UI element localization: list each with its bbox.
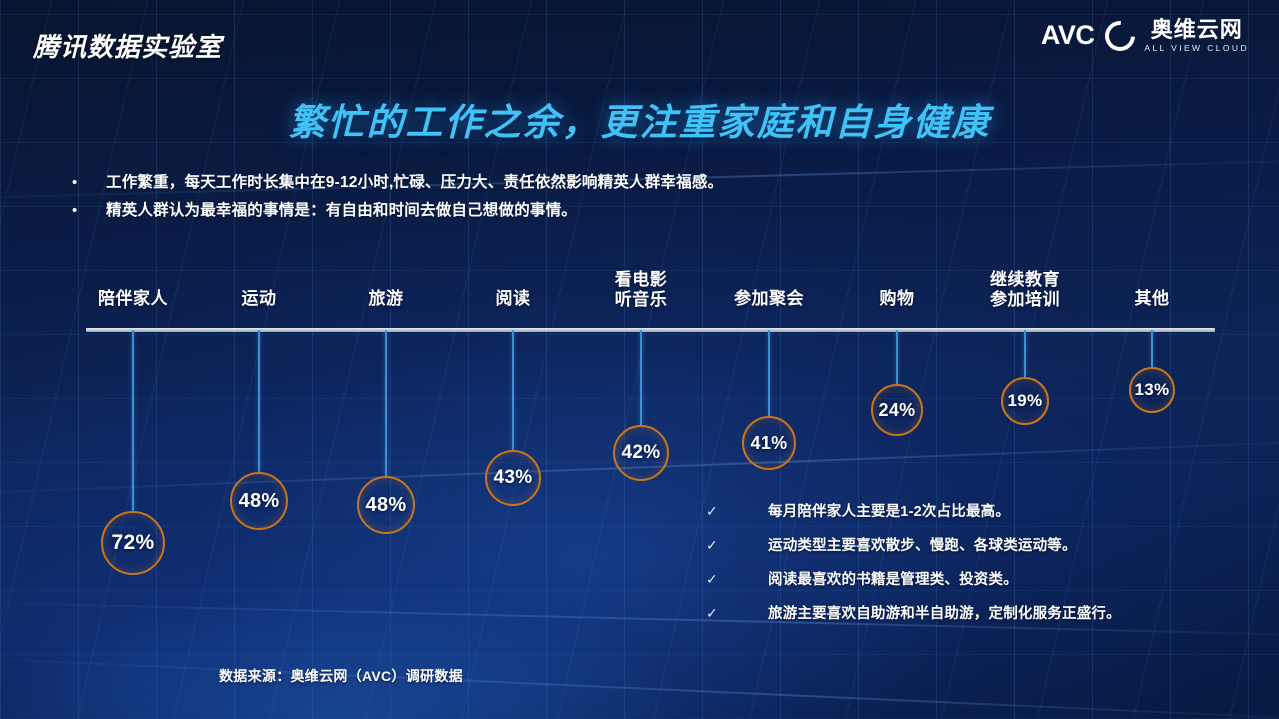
checklist-item-text: 旅游主要喜欢自助游和半自助游，定制化服务正盛行。 <box>768 602 1121 623</box>
chart-value-bubble[interactable]: 24% <box>871 384 923 436</box>
chart-category-label-line: 参加聚会 <box>734 289 804 309</box>
chart-category-label: 看电影听音乐 <box>615 270 668 309</box>
bullet-item: • 精英人群认为最幸福的事情是：有自由和时间去做自己想做的事情。 <box>72 198 1219 220</box>
check-icon: ✓ <box>706 572 768 586</box>
chart-value-bubble[interactable]: 41% <box>742 416 796 470</box>
checklist-item-text: 运动类型主要喜欢散步、慢跑、各球类运动等。 <box>768 534 1077 555</box>
chart-value-label: 48% <box>239 490 280 513</box>
chart-value-bubble[interactable]: 19% <box>1001 377 1049 425</box>
data-source-footer: 数据来源：奥维云网（AVC）调研数据 <box>219 666 463 686</box>
chart-value-bubble[interactable]: 72% <box>101 511 165 575</box>
avc-logo-english: ALL VIEW CLOUD <box>1144 43 1249 53</box>
checklist-item: ✓ 阅读最喜欢的书籍是管理类、投资类。 <box>706 568 1206 589</box>
chart-category-label-line: 继续教育 <box>990 270 1060 290</box>
avc-logo: AVC 奥维云网 ALL VIEW CLOUD <box>1041 18 1249 53</box>
chart-connector-line <box>640 330 642 425</box>
bullet-item: • 工作繁重，每天工作时长集中在9-12小时,忙碌、压力大、责任依然影响精英人群… <box>72 170 1219 192</box>
bullet-marker-icon: • <box>72 175 106 190</box>
chart-connector-line <box>132 330 134 511</box>
chart-value-bubble[interactable]: 13% <box>1129 367 1175 413</box>
chart-category-label: 继续教育参加培训 <box>990 270 1060 309</box>
background-sweep-line <box>0 656 1279 719</box>
chart-connector-line <box>512 330 514 450</box>
chart-value-label: 24% <box>879 400 916 421</box>
checklist-item-text: 每月陪伴家人主要是1-2次占比最高。 <box>768 500 1010 521</box>
chart-category-label-line: 听音乐 <box>615 290 668 310</box>
chart-category-label-line: 旅游 <box>369 289 404 309</box>
page-title: 繁忙的工作之余，更注重家庭和自身健康 <box>0 92 1279 146</box>
bullet-text: 工作繁重，每天工作时长集中在9-12小时,忙碌、压力大、责任依然影响精英人群幸福… <box>106 170 723 192</box>
avc-wordmark: AVC <box>1041 22 1095 49</box>
checklist-item: ✓ 运动类型主要喜欢散步、慢跑、各球类运动等。 <box>706 534 1206 555</box>
avc-letters: AVC <box>1041 22 1095 49</box>
chart-category-label: 购物 <box>880 289 915 309</box>
chart-value-bubble[interactable]: 42% <box>613 425 669 481</box>
chart-category-label-line: 购物 <box>880 289 915 309</box>
chart-category-label: 阅读 <box>496 289 531 309</box>
chart-connector-line <box>385 330 387 476</box>
check-icon: ✓ <box>706 606 768 620</box>
avc-logo-text: 奥维云网 ALL VIEW CLOUD <box>1144 18 1249 53</box>
insight-checklist: ✓ 每月陪伴家人主要是1-2次占比最高。 ✓ 运动类型主要喜欢散步、慢跑、各球类… <box>706 500 1206 636</box>
chart-value-label: 13% <box>1135 380 1170 400</box>
chart-connector-line <box>768 330 770 416</box>
chart-connector-line <box>896 330 898 384</box>
bullet-list: • 工作繁重，每天工作时长集中在9-12小时,忙碌、压力大、责任依然影响精英人群… <box>72 170 1219 226</box>
chart-value-label: 43% <box>494 467 533 489</box>
slide-header: 腾讯数据实验室 AVC 奥维云网 ALL VIEW CLOUD <box>0 0 1279 80</box>
chart-axis-line <box>86 328 1215 332</box>
chart-category-label: 参加聚会 <box>734 289 804 309</box>
checklist-item-text: 阅读最喜欢的书籍是管理类、投资类。 <box>768 568 1018 589</box>
slide-canvas: 腾讯数据实验室 AVC 奥维云网 ALL VIEW CLOUD 繁忙的工作之余，… <box>0 0 1279 719</box>
avc-crescent-icon <box>1099 14 1141 56</box>
chart-value-bubble[interactable]: 48% <box>230 472 288 530</box>
check-icon: ✓ <box>706 538 768 552</box>
chart-category-label-line: 运动 <box>242 289 277 309</box>
chart-category-label-line: 看电影 <box>615 270 668 290</box>
chart-connector-line <box>1024 330 1026 377</box>
chart-value-label: 42% <box>622 442 661 464</box>
chart-value-label: 19% <box>1008 391 1043 411</box>
bullet-text: 精英人群认为最幸福的事情是：有自由和时间去做自己想做的事情。 <box>106 198 577 220</box>
check-icon: ✓ <box>706 504 768 518</box>
avc-logo-chinese: 奥维云网 <box>1151 18 1243 41</box>
chart-category-label-line: 陪伴家人 <box>98 289 168 309</box>
checklist-item: ✓ 旅游主要喜欢自助游和半自助游，定制化服务正盛行。 <box>706 602 1206 623</box>
chart-category-label: 其他 <box>1135 289 1170 309</box>
brand-title-left: 腾讯数据实验室 <box>33 27 222 64</box>
chart-value-bubble[interactable]: 43% <box>485 450 541 506</box>
chart-category-label-line: 阅读 <box>496 289 531 309</box>
chart-value-label: 41% <box>751 433 788 454</box>
chart-category-label-line: 其他 <box>1135 289 1170 309</box>
chart-value-bubble[interactable]: 48% <box>357 476 415 534</box>
chart-value-label: 48% <box>366 494 407 517</box>
chart-category-label-line: 参加培训 <box>990 290 1060 310</box>
chart-connector-line <box>258 330 260 472</box>
checklist-item: ✓ 每月陪伴家人主要是1-2次占比最高。 <box>706 500 1206 521</box>
chart-value-label: 72% <box>112 531 155 555</box>
bullet-marker-icon: • <box>72 203 106 218</box>
chart-category-label: 旅游 <box>369 289 404 309</box>
chart-category-label: 陪伴家人 <box>98 289 168 309</box>
chart-connector-line <box>1151 330 1153 367</box>
chart-category-label: 运动 <box>242 289 277 309</box>
